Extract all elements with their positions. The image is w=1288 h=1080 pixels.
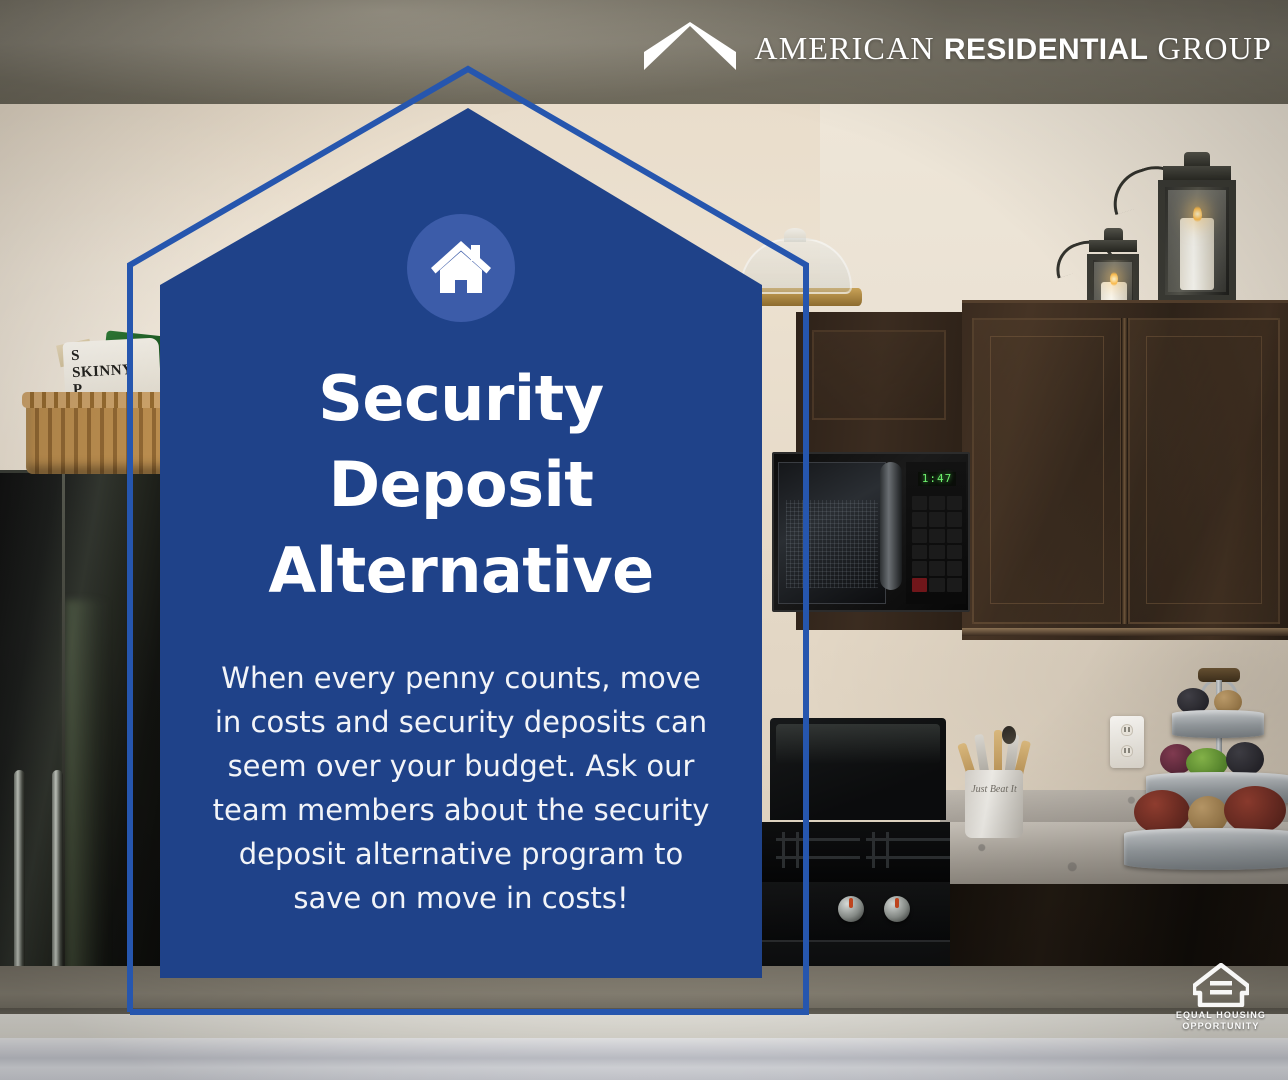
headline-line-3: Alternative [181,528,741,614]
brand-name-group: GROUP [1158,30,1272,66]
body-line-2: in costs and security deposits can [185,700,737,744]
home-icon-badge [407,214,515,322]
poster-canvas: FRIGIDAIRE 1:47 [0,0,1288,1080]
brand-logo: AMERICAN RESIDENTIAL GROUP [644,22,1272,74]
body-line-5: deposit alternative program to [185,832,737,876]
equal-housing-line-2: OPPORTUNITY [1176,1021,1266,1032]
equal-housing-text: EQUAL HOUSING OPPORTUNITY [1176,1010,1266,1032]
body-line-4: team members about the security [185,788,737,832]
home-icon [429,239,493,297]
brand-name: AMERICAN RESIDENTIAL GROUP [754,30,1272,67]
body-line-1: When every penny counts, move [185,656,737,700]
headline-line-2: Deposit [181,442,741,528]
promo-card-content: Security Deposit Alternative When every … [160,180,762,980]
brand-name-american: AMERICAN [754,30,934,66]
headline-line-1: Security [181,356,741,442]
promo-body-text: When every penny counts, move in costs a… [185,656,737,920]
brand-name-residential: RESIDENTIAL [944,33,1148,66]
chevron-roof-logo-icon [644,22,736,74]
equal-housing-house-icon [1193,963,1249,1007]
equal-housing-opportunity-logo: EQUAL HOUSING OPPORTUNITY [1176,963,1266,1032]
body-line-6: save on move in costs! [185,876,737,920]
body-line-3: seem over your budget. Ask our [185,744,737,788]
page-title: Security Deposit Alternative [181,356,741,614]
equal-housing-line-1: EQUAL HOUSING [1176,1010,1266,1021]
